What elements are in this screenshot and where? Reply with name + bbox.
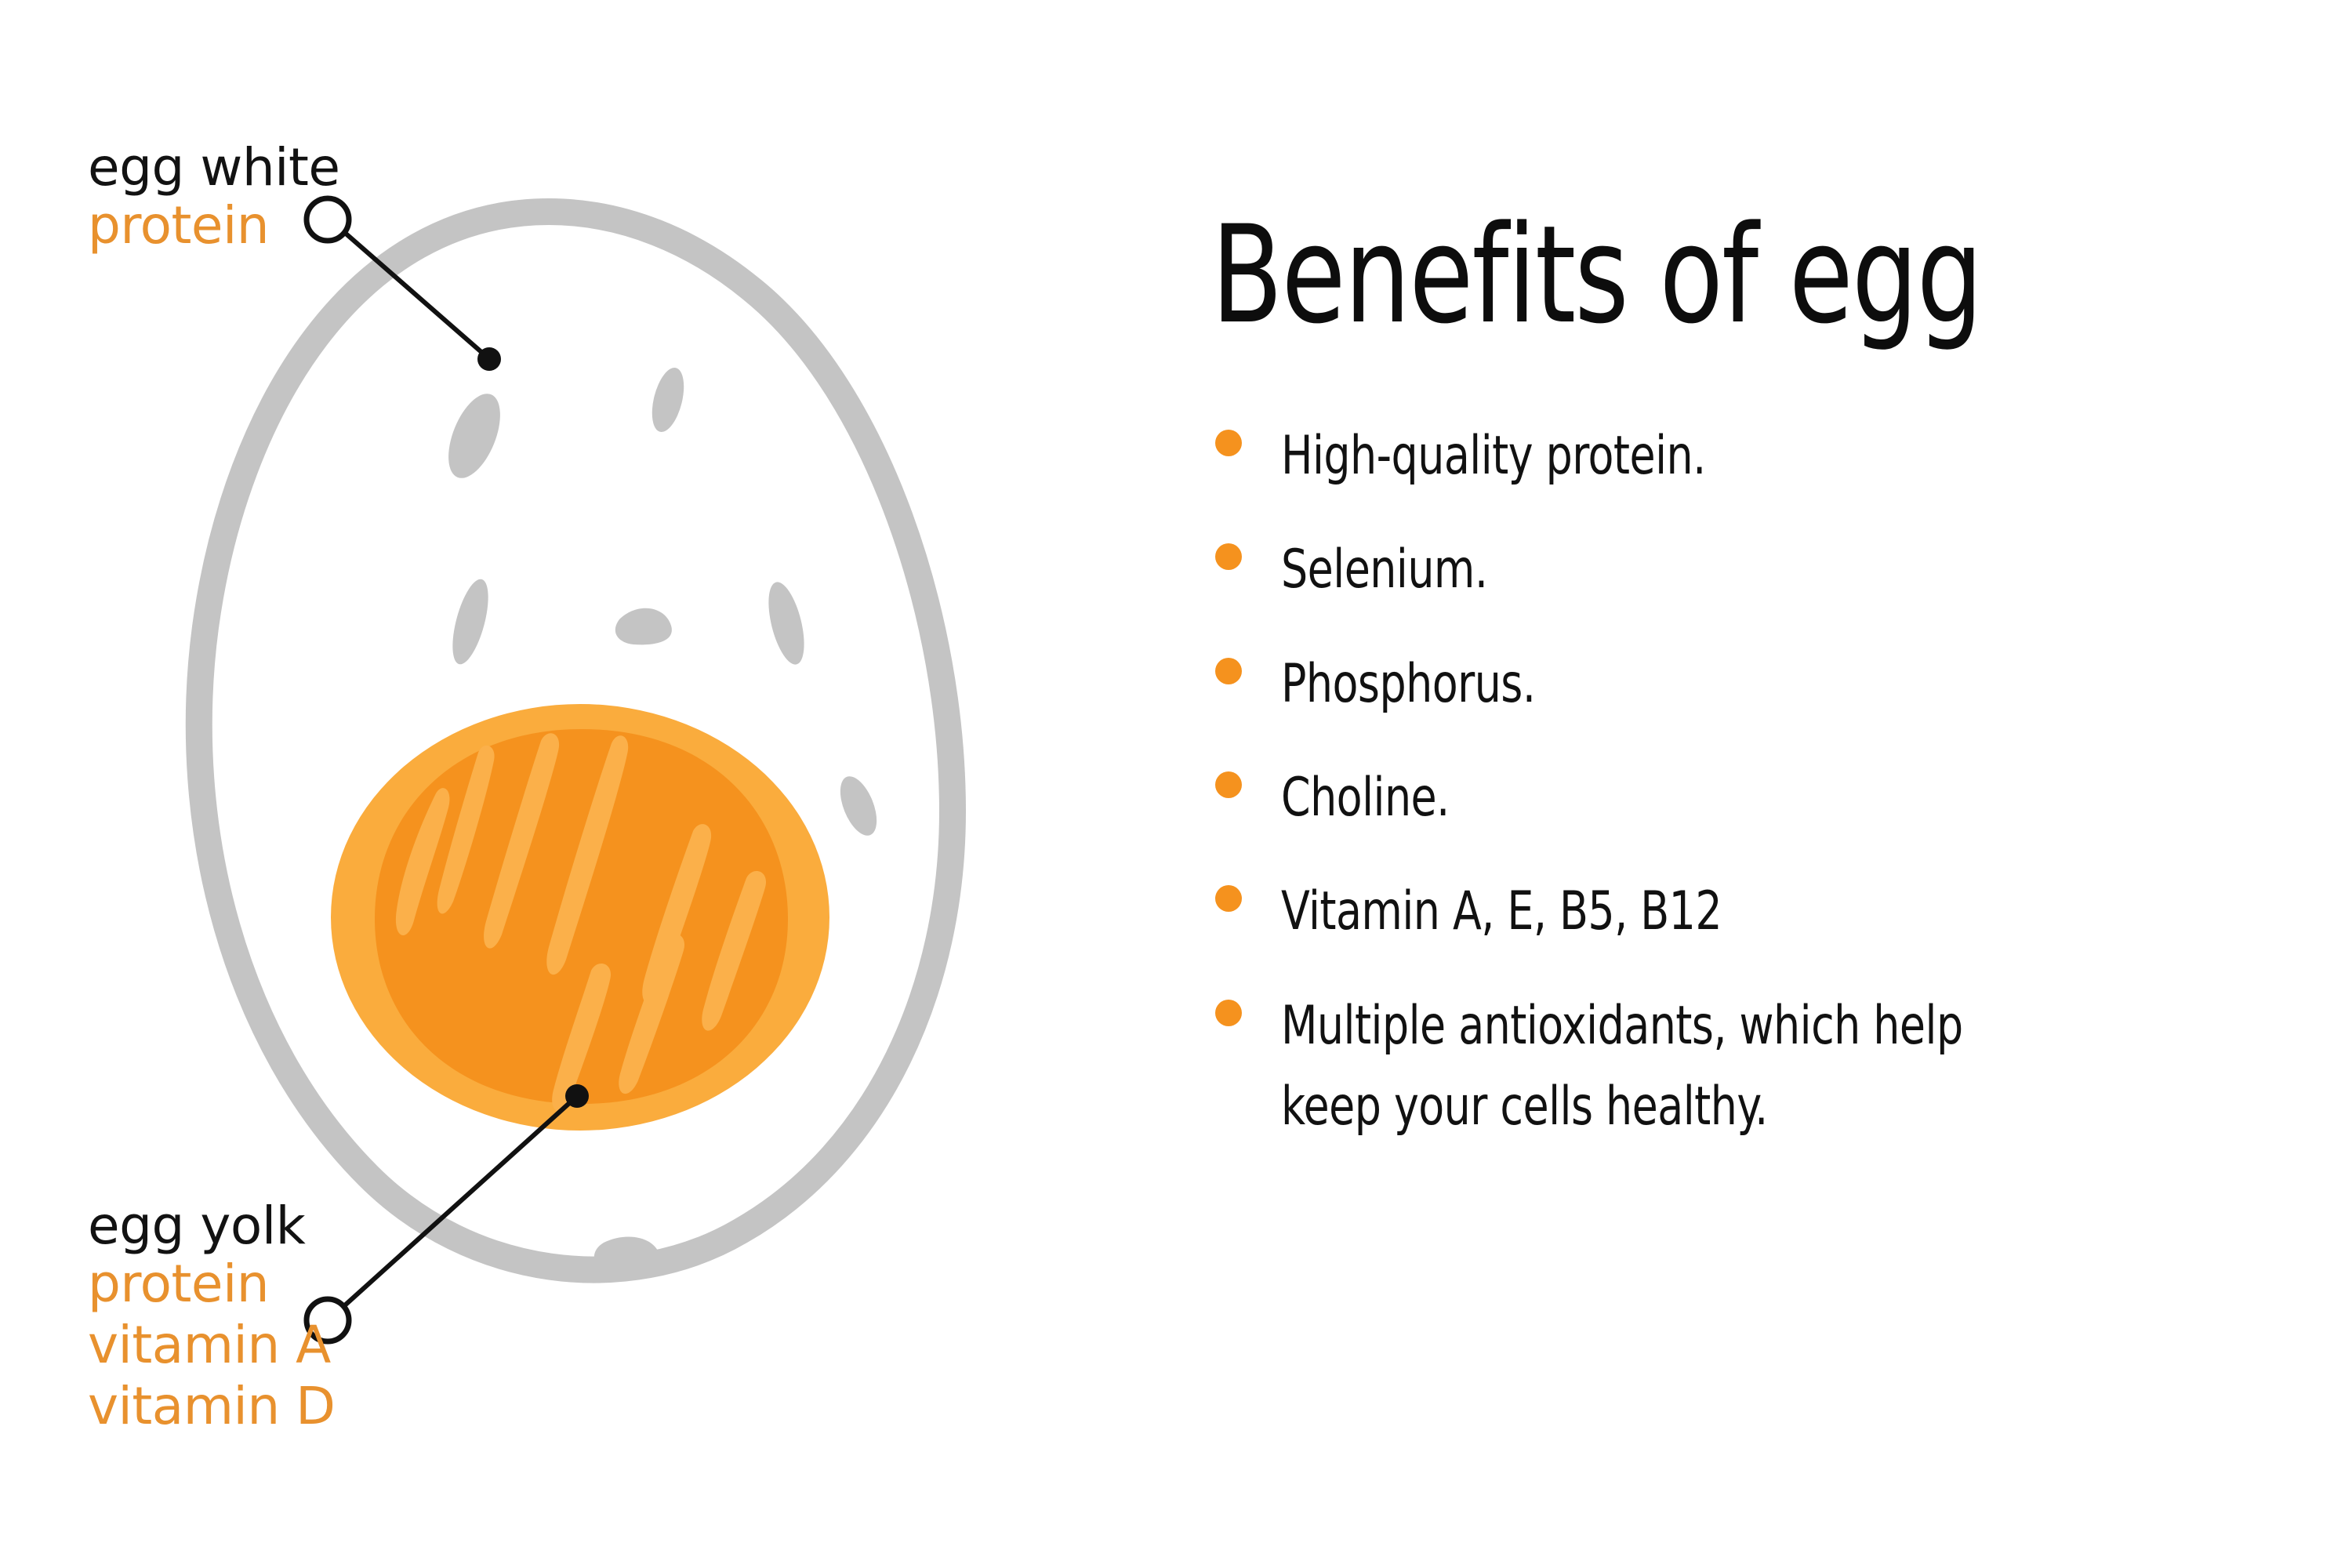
benefits-list: High-quality protein. Selenium. Phosphor… xyxy=(1209,416,2338,1181)
benefit-label: Choline. xyxy=(1281,757,2211,838)
benefits-panel: Benefits of egg High-quality protein. Se… xyxy=(1192,0,2352,1568)
callout-egg-yolk: egg yolk protein vitamin A vitamin D xyxy=(88,1198,335,1437)
callout-egg-white-nutrient-protein: protein xyxy=(88,195,340,256)
benefit-label: High-quality protein. xyxy=(1281,416,2211,496)
list-item: Choline. xyxy=(1209,757,2338,838)
callout-egg-yolk-nutrient-vitamin-a: vitamin A xyxy=(88,1315,335,1376)
egg-diagram-panel: egg white protein egg yolk protein vitam… xyxy=(0,0,1137,1568)
callout-egg-white-title: egg white xyxy=(88,140,340,195)
callout-egg-yolk-nutrient-vitamin-d: vitamin D xyxy=(88,1376,335,1437)
benefit-label: Phosphorus. xyxy=(1281,644,2211,724)
callout-egg-white: egg white protein xyxy=(88,140,340,256)
callout-egg-yolk-nutrient-protein: protein xyxy=(88,1254,335,1315)
bullet-dot-icon xyxy=(1215,430,1242,456)
benefit-label: Vitamin A, E, B5, B12 xyxy=(1281,871,2211,952)
list-item: Selenium. xyxy=(1209,529,2338,610)
bullet-dot-icon xyxy=(1215,885,1242,912)
list-item: High-quality protein. xyxy=(1209,416,2338,496)
infographic-canvas: egg white protein egg yolk protein vitam… xyxy=(0,0,2352,1568)
bullet-dot-icon xyxy=(1215,771,1242,798)
list-item: Phosphorus. xyxy=(1209,644,2338,724)
bullet-dot-icon xyxy=(1215,658,1242,684)
list-item: Vitamin A, E, B5, B12 xyxy=(1209,871,2338,952)
egg-yolk xyxy=(331,704,829,1131)
page-title: Benefits of egg xyxy=(1211,208,1982,343)
benefit-label: Selenium. xyxy=(1281,529,2211,610)
callout-egg-yolk-title: egg yolk xyxy=(88,1198,335,1254)
bullet-dot-icon xyxy=(1215,1000,1242,1026)
list-item: Multiple antioxidants, which help keep y… xyxy=(1209,985,2338,1148)
bullet-dot-icon xyxy=(1215,543,1242,570)
benefit-label: Multiple antioxidants, which help keep y… xyxy=(1281,985,2211,1148)
